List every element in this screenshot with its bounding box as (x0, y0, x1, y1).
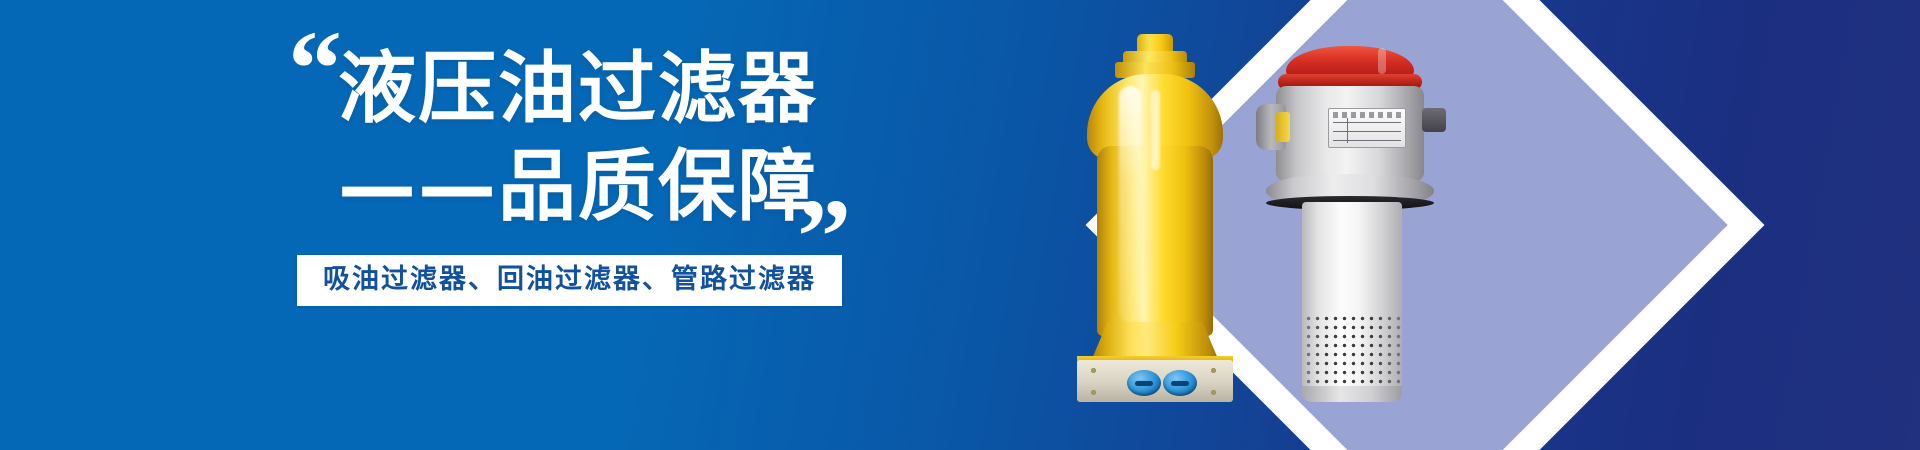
base-screw (1091, 368, 1096, 373)
open-quote-icon: “ (288, 16, 338, 124)
base-screw (1091, 390, 1096, 395)
product-images (1055, 0, 1655, 450)
filter-highlight-secondary (1151, 90, 1160, 170)
perforated-screen (1302, 312, 1402, 386)
banner-copy: “ 液压油过滤器 ——品质保障 „ 吸油过滤器、回油过滤器、管路过滤器 (0, 0, 1060, 450)
headline-line-1: 液压油过滤器 (338, 50, 818, 128)
close-quote-icon: „ (798, 128, 848, 236)
filter-body (1097, 146, 1213, 336)
filter-port-right (1163, 370, 1197, 396)
headline-line-2: ——品质保障 (338, 148, 818, 226)
nameplate (1328, 108, 1406, 148)
return-filter-image (1250, 46, 1450, 446)
subtitle-text: 吸油过滤器、回油过滤器、管路过滤器 (323, 266, 816, 293)
housing-side-fitting (1422, 108, 1446, 132)
pressure-filter-image (1075, 34, 1235, 404)
filter-port-left (1127, 370, 1161, 396)
base-screw (1211, 368, 1216, 373)
housing-yellow-fitting (1276, 112, 1290, 142)
base-screw (1211, 390, 1216, 395)
subtitle-box: 吸油过滤器、回油过滤器、管路过滤器 (297, 255, 842, 306)
cap-ridge (1378, 48, 1386, 74)
tube-bottom (1302, 386, 1402, 402)
filter-highlight (1119, 86, 1141, 322)
promo-banner: “ 液压油过滤器 ——品质保障 „ 吸油过滤器、回油过滤器、管路过滤器 (0, 0, 1920, 450)
